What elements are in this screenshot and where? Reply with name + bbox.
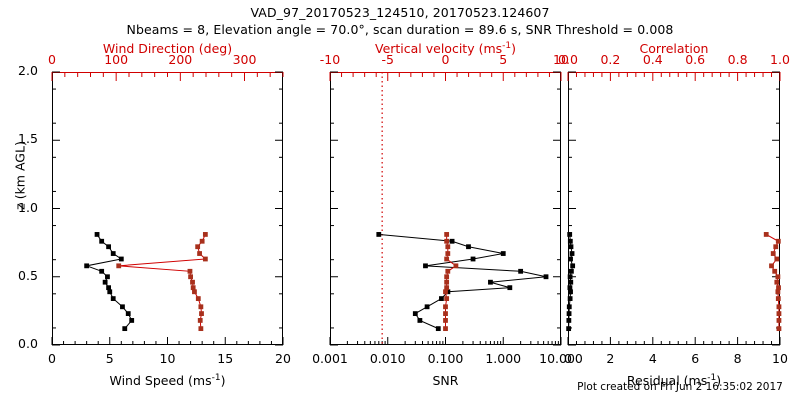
figure-subtitle: Nbeams = 8, Elevation angle = 70.0°, sca…: [0, 22, 800, 37]
panel-snr-vertical-velocity: [330, 72, 561, 345]
residual-top-tick-5: 1.0: [745, 52, 800, 67]
y-tick-1: 0.5: [5, 268, 51, 283]
panel-wind-bottom-axis-label: Wind Speed (ms-1): [52, 373, 283, 388]
vad-profile-figure: VAD_97_20170523_124510, 20170523.124607 …: [0, 0, 800, 400]
panel-residual-correlation: [568, 72, 780, 345]
panel-wind-plot: [52, 72, 283, 345]
y-tick-2: 1.0: [5, 200, 51, 215]
panel-snr-plot: [330, 72, 561, 345]
wind-top-tick-3: 300: [210, 52, 280, 67]
wind-top-tick-1: 100: [81, 52, 151, 67]
y-tick-3: 1.5: [5, 131, 51, 146]
panel-wind-speed-direction: [52, 72, 283, 345]
panel-snr-bottom-axis-label: SNR: [330, 373, 561, 388]
y-tick-4: 2.0: [5, 63, 51, 78]
y-tick-0: 0.0: [5, 336, 51, 351]
figure-title: VAD_97_20170523_124510, 20170523.124607: [0, 5, 800, 20]
plot-created-footer: Plot created on Fri Jun 2 16:35:02 2017: [560, 381, 800, 393]
panel-residual-plot: [568, 72, 780, 345]
residual-bottom-tick-5: 10: [745, 351, 800, 366]
wind-top-tick-2: 200: [145, 52, 215, 67]
